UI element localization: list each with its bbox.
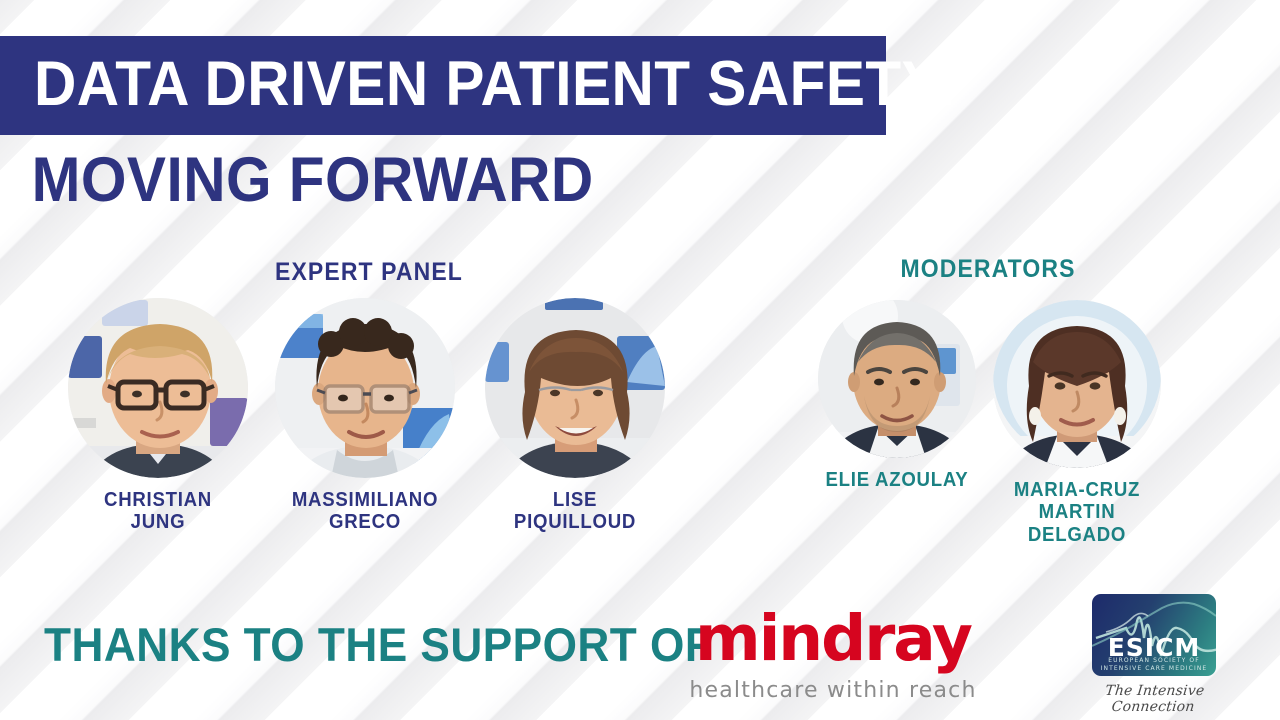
portrait-photo — [275, 298, 455, 478]
esicm-full-name-line-1: EUROPEAN SOCIETY OF — [1092, 657, 1216, 665]
title-line-2: MOVING FORWARD — [0, 135, 824, 212]
mindray-sponsor-logo: mindray healthcare within reach — [688, 607, 978, 703]
avatar — [275, 298, 455, 478]
avatar — [993, 300, 1161, 468]
esicm-logo-mark: ESICM EUROPEAN SOCIETY OF INTENSIVE CARE… — [1092, 594, 1216, 676]
panelist-christian-jung: CHRISTIAN JUNG — [68, 298, 248, 534]
avatar — [485, 298, 665, 478]
portrait-photo — [68, 298, 248, 478]
moderator-name: MARIA-CRUZ MARTIN DELGADO — [999, 479, 1155, 546]
panelist-name: MASSIMILIANO GRECO — [281, 489, 448, 534]
title-line-1: DATA DRIVEN PATIENT SAFETY: — [34, 53, 957, 116]
esicm-tagline: The Intensive Connection — [1090, 683, 1217, 715]
moderator-elie-azoulay: ELIE AZOULAY — [818, 300, 976, 491]
slide-title-block: DATA DRIVEN PATIENT SAFETY: MOVING FORWA… — [0, 36, 886, 212]
moderator-name: ELIE AZOULAY — [824, 469, 971, 491]
panelist-name: LISE PIQUILLOUD — [491, 489, 658, 534]
esicm-organisation-logo: ESICM EUROPEAN SOCIETY OF INTENSIVE CARE… — [1092, 594, 1216, 715]
moderators-heading: MODERATORS — [850, 255, 1126, 284]
esicm-full-name: EUROPEAN SOCIETY OF INTENSIVE CARE MEDIC… — [1092, 657, 1216, 672]
title-highlight-band: DATA DRIVEN PATIENT SAFETY: — [0, 36, 886, 135]
mindray-tagline: healthcare within reach — [688, 678, 978, 703]
esicm-full-name-line-2: INTENSIVE CARE MEDICINE — [1092, 665, 1216, 673]
moderator-maria-cruz-martin-delgado: MARIA-CRUZ MARTIN DELGADO — [993, 300, 1161, 546]
panelist-name: CHRISTIAN JUNG — [74, 489, 241, 534]
avatar — [818, 300, 976, 458]
presentation-slide: DATA DRIVEN PATIENT SAFETY: MOVING FORWA… — [0, 0, 1280, 720]
avatar — [68, 298, 248, 478]
portrait-photo — [993, 300, 1161, 468]
thanks-to-support-label: THANKS TO THE SUPPORT OF — [44, 617, 712, 672]
portrait-photo — [485, 298, 665, 478]
portrait-photo — [818, 300, 976, 458]
mindray-wordmark: mindray — [688, 607, 978, 670]
expert-panel-heading: EXPERT PANEL — [202, 258, 535, 287]
panelist-massimiliano-greco: MASSIMILIANO GRECO — [275, 298, 455, 534]
panelist-lise-piquilloud: LISE PIQUILLOUD — [485, 298, 665, 534]
